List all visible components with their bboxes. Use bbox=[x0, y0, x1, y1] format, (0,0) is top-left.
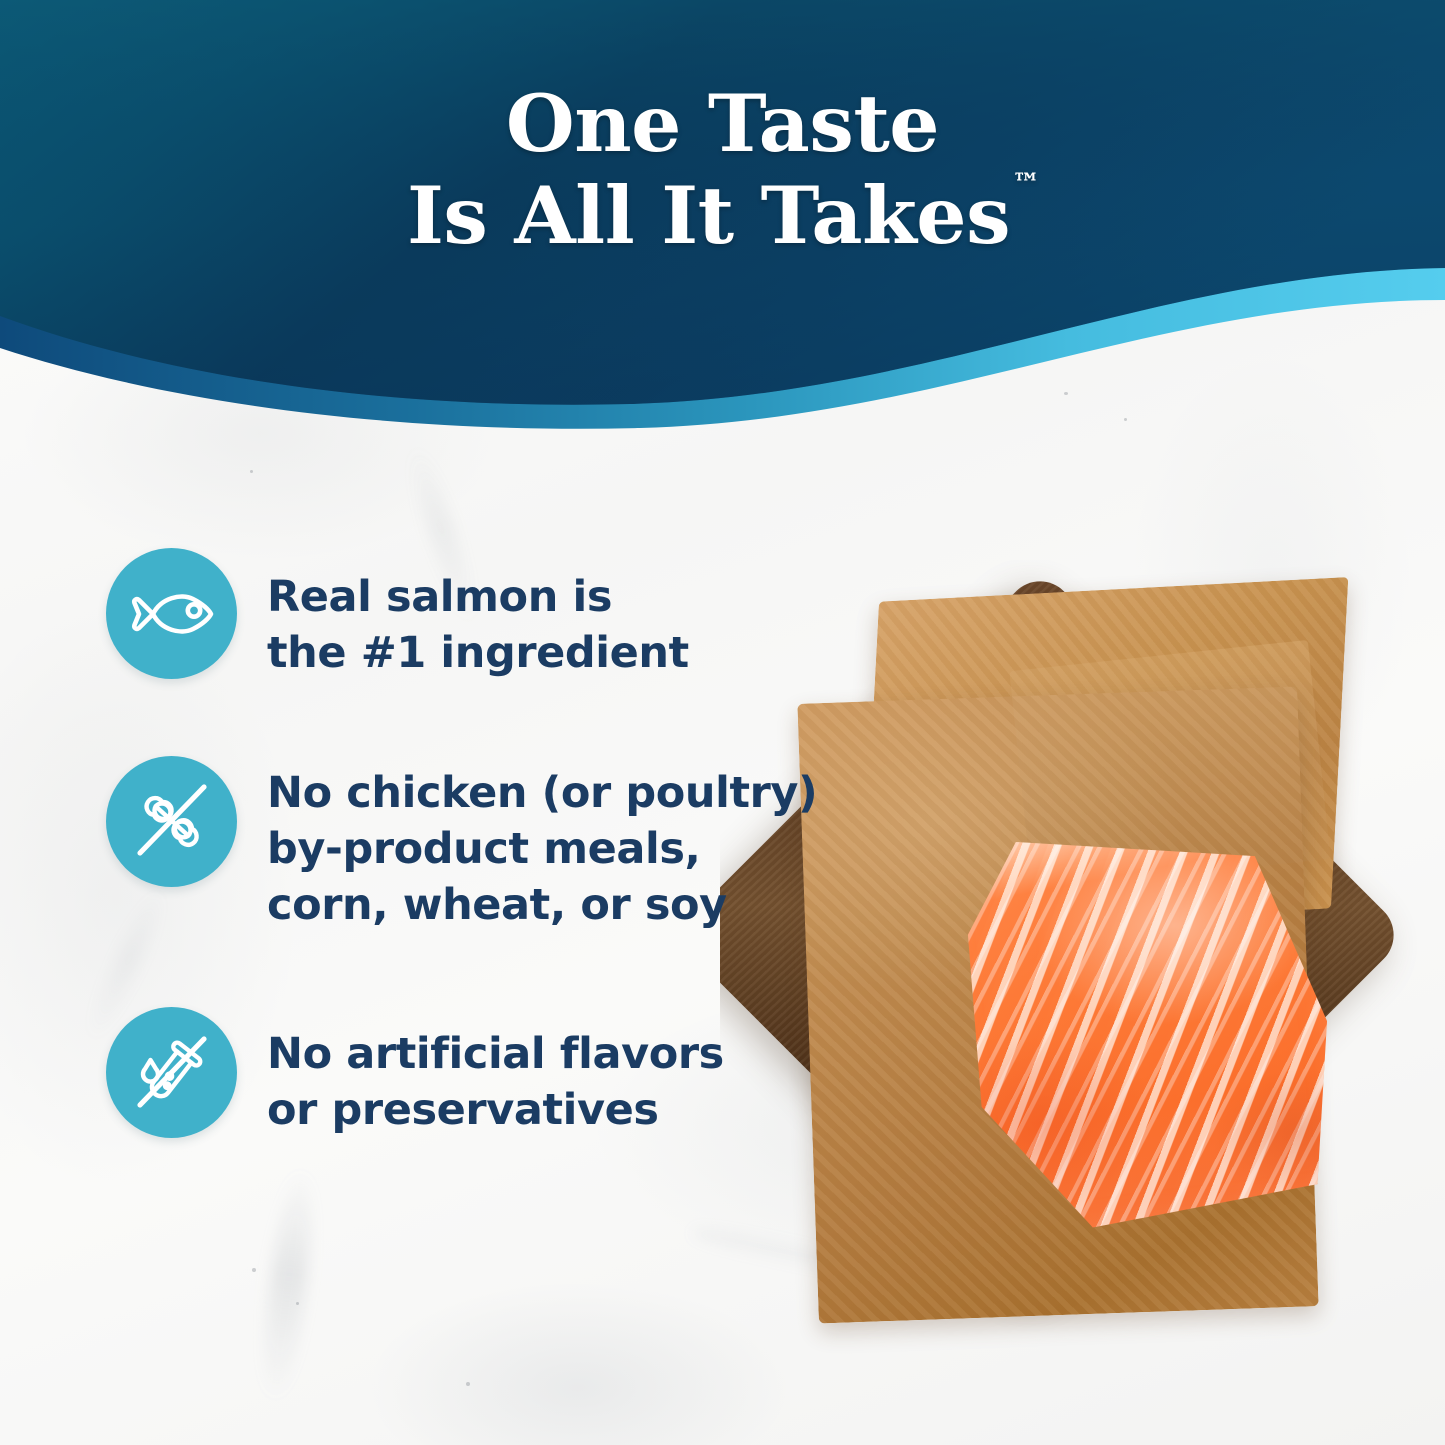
marble-speck bbox=[252, 1268, 256, 1272]
product-feature-banner: One Taste Is All It Takes™ Real salmon i… bbox=[0, 0, 1445, 1445]
fish-icon-badge bbox=[106, 548, 237, 679]
trademark-symbol: ™ bbox=[1012, 167, 1040, 200]
marble-speck bbox=[466, 1382, 470, 1386]
list-item: Real salmon is the #1 ingredient bbox=[106, 548, 866, 682]
no-test-tube-icon bbox=[124, 1025, 220, 1121]
no-bone-icon bbox=[124, 773, 220, 869]
list-item-label: No artificial flavors or preservatives bbox=[267, 1007, 724, 1139]
page-title: One Taste Is All It Takes™ bbox=[0, 78, 1445, 261]
no-test-tube-icon-badge bbox=[106, 1007, 237, 1138]
marble-speck bbox=[250, 470, 253, 473]
list-item-label: No chicken (or poultry) by-product meals… bbox=[267, 756, 817, 934]
list-item: No chicken (or poultry) by-product meals… bbox=[106, 756, 866, 934]
marble-speck bbox=[296, 1302, 299, 1305]
fish-icon bbox=[129, 584, 215, 644]
list-item-label: Real salmon is the #1 ingredient bbox=[267, 548, 689, 682]
no-bone-icon-badge bbox=[106, 756, 237, 887]
headline-line-2: Is All It Takes bbox=[407, 169, 1010, 262]
list-item: No artificial flavors or preservatives bbox=[106, 1007, 866, 1139]
header-banner: One Taste Is All It Takes™ bbox=[0, 0, 1445, 440]
headline-line-1: One Taste bbox=[0, 78, 1445, 170]
feature-list: Real salmon is the #1 ingredient No chic… bbox=[106, 548, 866, 1139]
